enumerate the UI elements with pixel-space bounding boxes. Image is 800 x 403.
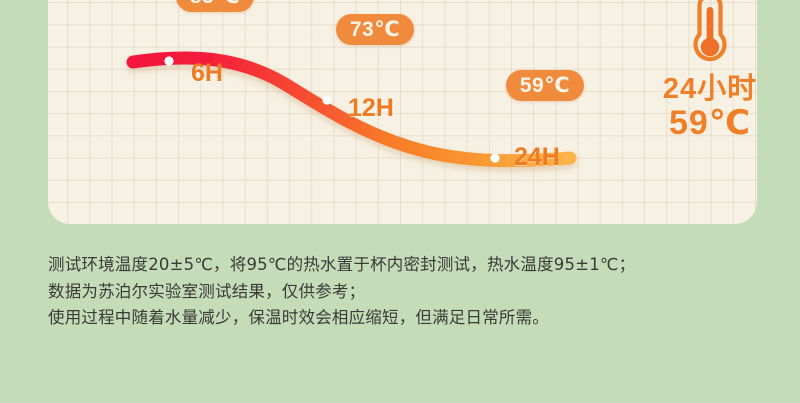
- note-line-2: 数据为苏泊尔实验室测试结果，仅供参考；: [48, 279, 788, 306]
- data-point-12h: [322, 95, 331, 104]
- temp-badge-59c: 59℃: [506, 70, 584, 101]
- data-point-24h: [490, 153, 499, 162]
- temp-badge-73c: 73℃: [336, 14, 414, 45]
- summary-block: 24小时 59℃: [640, 0, 757, 141]
- hour-label-12h: 12H: [348, 94, 394, 123]
- hour-label-24h: 24H: [514, 143, 560, 172]
- hour-label-6h: 6H: [191, 59, 223, 88]
- thermometer-icon: [684, 0, 736, 68]
- note-line-1: 测试环境温度20±5℃，将95℃的热水置于杯内密封测试，热水温度95±1℃；: [48, 252, 788, 279]
- data-point-6h: [164, 56, 173, 65]
- note-line-3: 使用过程中随着水量减少，保温时效会相应缩短，但满足日常所需。: [48, 305, 788, 332]
- temp-badge-83c: 83℃: [176, 0, 254, 12]
- test-conditions-notes: 测试环境温度20±5℃，将95℃的热水置于杯内密封测试，热水温度95±1℃； 数…: [48, 252, 788, 332]
- summary-temperature: 59℃: [640, 105, 757, 141]
- insulation-chart-card: 83℃ 73℃ 59℃ 6H 12H 24H 24小时 59℃: [48, 0, 757, 224]
- summary-duration: 24小时: [640, 74, 757, 105]
